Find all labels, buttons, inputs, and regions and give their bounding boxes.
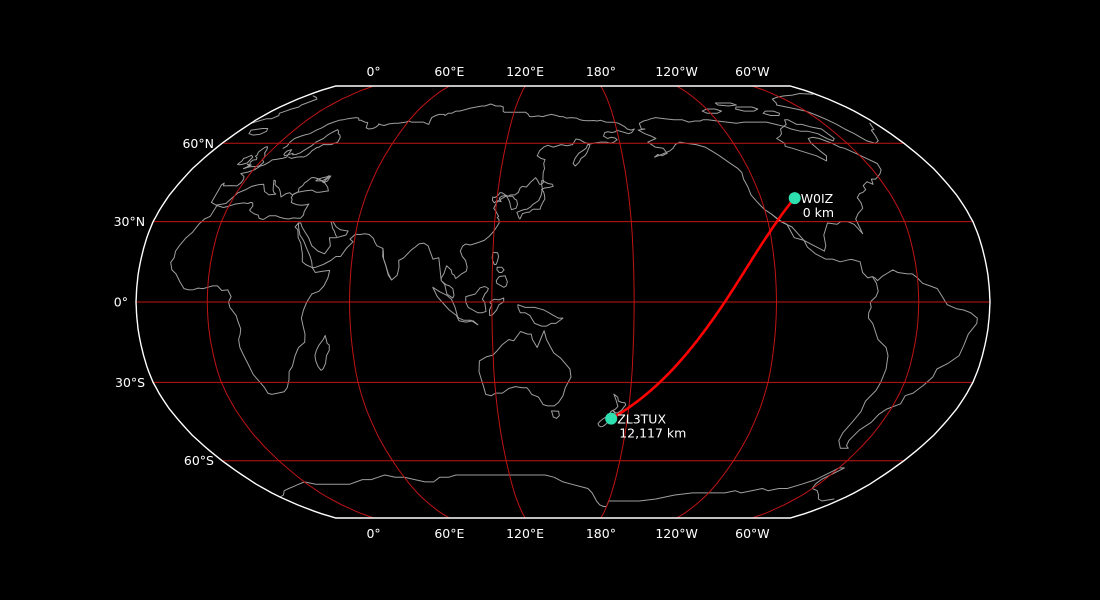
map-figure: Robinson Projection DM68AW to RE66HO (22… bbox=[0, 0, 1100, 600]
lon-tick-bottom-4: 60°W bbox=[735, 526, 770, 541]
lon-tick-bottom-5: 0° bbox=[366, 526, 380, 541]
lon-tick-top-5: 0° bbox=[366, 64, 380, 79]
lat-tick-4: 60°S bbox=[184, 453, 214, 468]
lon-tick-top-3: 120°W bbox=[655, 64, 697, 79]
lon-tick-top-2: 180° bbox=[586, 64, 616, 79]
robinson-map[interactable]: W0IZ0 kmZL3TUX12,117 km 60°E60°E120°E120… bbox=[0, 0, 1100, 600]
lon-tick-bottom-0: 60°E bbox=[434, 526, 464, 541]
lat-tick-0: 60°N bbox=[182, 136, 214, 151]
lon-tick-bottom-3: 120°W bbox=[655, 526, 697, 541]
station-callsign-W0IZ: W0IZ bbox=[801, 191, 834, 206]
lon-tick-bottom-2: 180° bbox=[586, 526, 616, 541]
lat-tick-3: 30°S bbox=[115, 375, 145, 390]
lat-tick-1: 30°N bbox=[114, 214, 146, 229]
lon-tick-bottom-1: 120°E bbox=[506, 526, 544, 541]
lon-tick-top-0: 60°E bbox=[434, 64, 464, 79]
station-marker-W0IZ[interactable] bbox=[789, 192, 801, 204]
lat-tick-2: 0° bbox=[114, 295, 128, 310]
station-marker-ZL3TUX[interactable] bbox=[605, 413, 617, 425]
lon-tick-top-1: 120°E bbox=[506, 64, 544, 79]
station-callsign-ZL3TUX: ZL3TUX bbox=[617, 412, 666, 427]
map-background bbox=[0, 0, 1100, 600]
lon-tick-top-4: 60°W bbox=[735, 64, 770, 79]
station-distance-W0IZ: 0 km bbox=[803, 205, 834, 220]
station-distance-ZL3TUX: 12,117 km bbox=[619, 426, 686, 441]
